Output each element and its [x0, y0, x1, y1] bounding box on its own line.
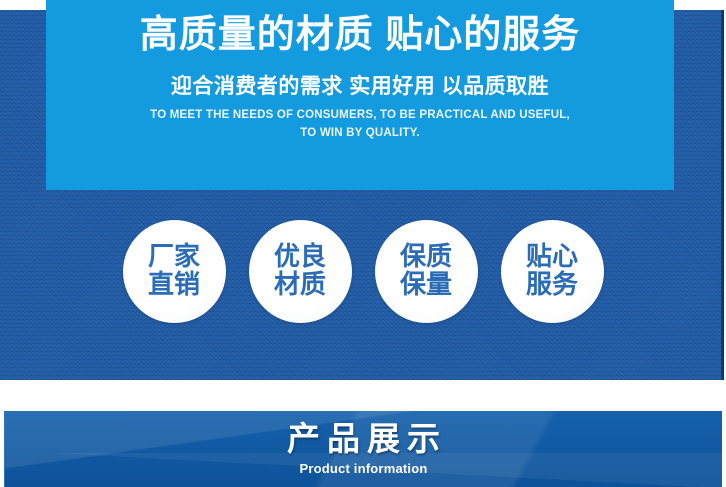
product-banner-title: 产品展示 [280, 422, 447, 457]
feature-circle-thoughtful-service: 贴心 服务 [501, 220, 604, 323]
headline-panel: 高质量的材质 贴心的服务 迎合消费者的需求 实用好用 以品质取胜 TO MEET… [46, 0, 674, 190]
headline-english-line-1: TO MEET THE NEEDS OF CONSUMERS, TO BE PR… [150, 107, 570, 125]
headline-main-title: 高质量的材质 贴心的服务 [140, 13, 581, 58]
feature-circle-factory-direct: 厂家 直销 [123, 220, 226, 323]
promo-poster: 高质量的材质 贴心的服务 迎合消费者的需求 实用好用 以品质取胜 TO MEET… [0, 0, 726, 487]
feature-label-line-2: 材质 [274, 271, 326, 299]
headline-english: TO MEET THE NEEDS OF CONSUMERS, TO BE PR… [150, 107, 570, 143]
feature-label-line-2: 保量 [400, 271, 452, 299]
feature-circle-guaranteed-quality: 保质 保量 [375, 220, 478, 323]
feature-circle-quality-material: 优良 材质 [249, 220, 352, 323]
product-banner-subtitle: Product information [299, 461, 427, 476]
feature-circle-row: 厂家 直销 优良 材质 保质 保量 贴心 服务 [0, 216, 726, 326]
feature-label-line-1: 厂家 [148, 243, 200, 271]
headline-subtitle: 迎合消费者的需求 实用好用 以品质取胜 [171, 70, 549, 100]
feature-label-line-2: 服务 [526, 271, 578, 299]
feature-label-line-2: 直销 [148, 271, 200, 299]
feature-label-line-1: 保质 [400, 243, 452, 271]
feature-label-line-1: 贴心 [526, 243, 578, 271]
product-information-banner: 产品展示 Product information [4, 411, 722, 487]
headline-english-line-2: TO WIN BY QUALITY. [150, 125, 570, 143]
feature-label-line-1: 优良 [274, 243, 326, 271]
